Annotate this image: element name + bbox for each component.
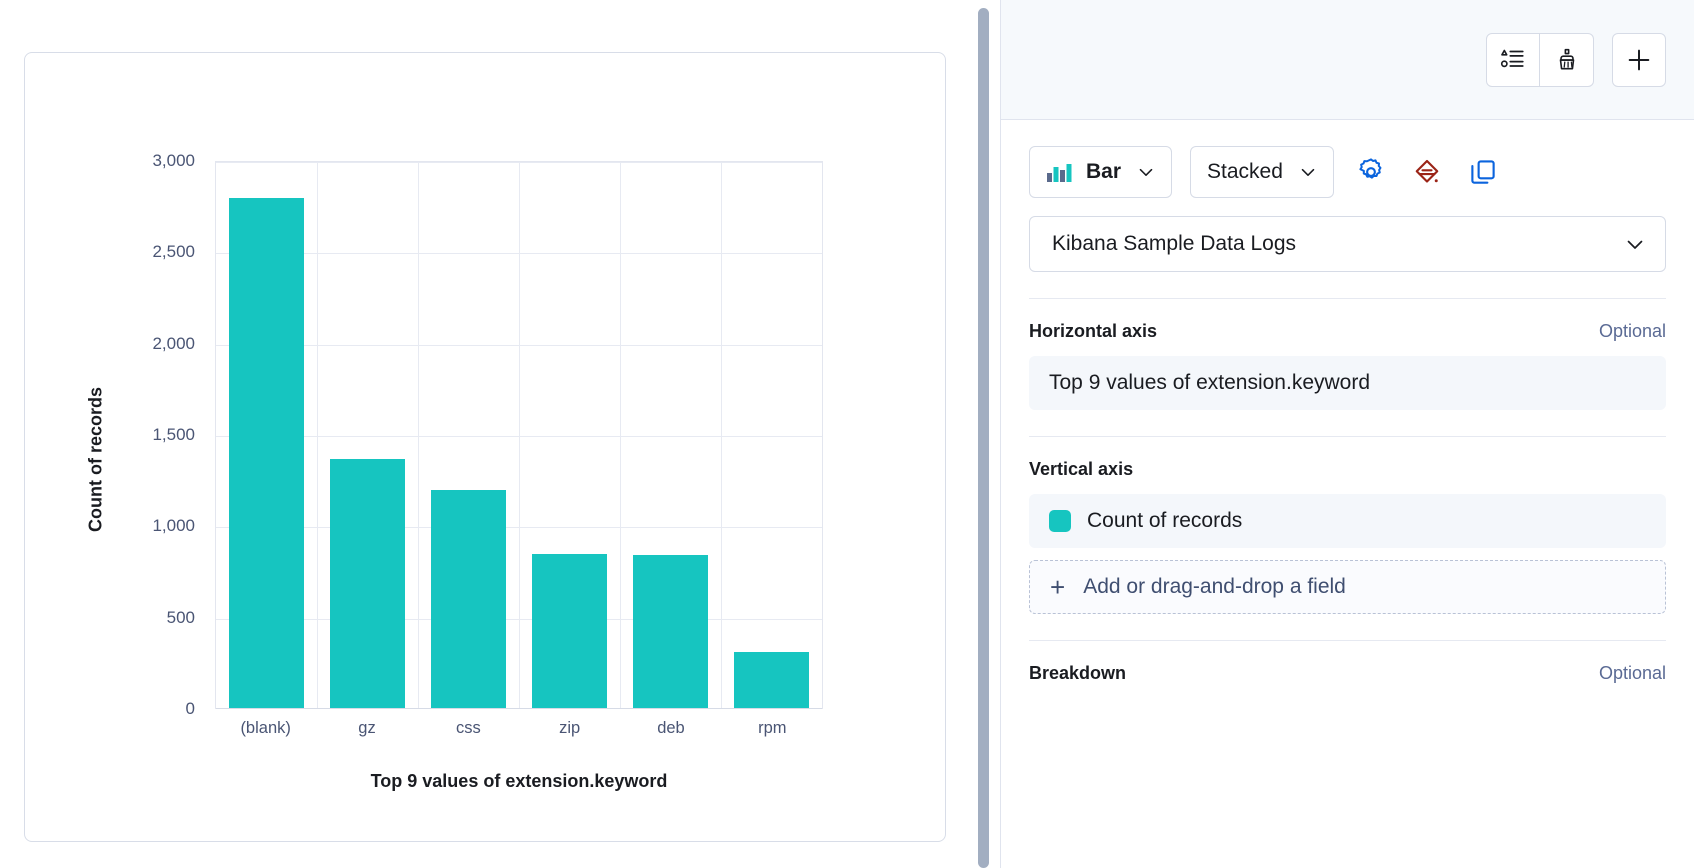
bar[interactable] — [734, 652, 810, 709]
color-swatch — [1049, 510, 1071, 532]
dimension-label: Top 9 values of extension.keyword — [1049, 371, 1370, 395]
stacking-label: Stacked — [1207, 160, 1283, 184]
chevron-down-icon — [1623, 232, 1647, 256]
dimension-chip[interactable]: Top 9 values of extension.keyword — [1029, 356, 1666, 410]
x-axis-line — [216, 708, 822, 709]
bar[interactable] — [431, 490, 507, 709]
x-axis-tick-labels: (blank)gzcsszipdebrpm — [215, 719, 823, 738]
stacking-select[interactable]: Stacked — [1190, 146, 1334, 198]
bar-series — [216, 162, 822, 709]
group-title: Breakdown — [1029, 663, 1126, 684]
brush-icon — [1554, 47, 1580, 73]
plot-area — [215, 161, 823, 709]
legend-options-button[interactable] — [1486, 33, 1540, 87]
clear-layer-button[interactable] — [1408, 153, 1446, 191]
bar[interactable] — [532, 554, 608, 709]
datasource-select[interactable]: Kibana Sample Data Logs — [1029, 216, 1666, 272]
group-optional-label: Optional — [1599, 663, 1666, 684]
x-axis-title: Top 9 values of extension.keyword — [215, 771, 823, 792]
bar-chart-icon — [1046, 161, 1072, 183]
dimension-label: Count of records — [1087, 509, 1242, 533]
bar[interactable] — [633, 555, 709, 709]
dimension-groups: Horizontal axisOptionalTop 9 values of e… — [1029, 298, 1666, 684]
y-axis-tick: 1,500 — [152, 425, 195, 445]
x-axis-tick: (blank) — [215, 719, 316, 738]
chevron-down-icon — [1297, 161, 1319, 183]
group-divider — [1029, 640, 1666, 641]
x-axis-tick: deb — [620, 719, 721, 738]
chart-type-select[interactable]: Bar — [1029, 146, 1172, 198]
group-divider — [1029, 298, 1666, 299]
chart-workspace: Count of records 05001,0001,5002,0002,50… — [0, 0, 978, 868]
duplicate-layer-button[interactable] — [1464, 153, 1502, 191]
group-optional-label: Optional — [1599, 321, 1666, 342]
bar-slot — [620, 162, 721, 709]
bar-slot — [216, 162, 317, 709]
x-axis-tick: css — [418, 719, 519, 738]
bar-slot — [721, 162, 822, 709]
toolbar-button-group — [1486, 33, 1594, 87]
config-panel: Bar Stacked — [1000, 0, 1694, 868]
bar-slot — [418, 162, 519, 709]
group-header: Horizontal axisOptional — [1029, 321, 1666, 342]
group-title: Horizontal axis — [1029, 321, 1157, 342]
chevron-down-icon — [1135, 161, 1157, 183]
y-axis-tick: 500 — [167, 608, 195, 628]
chart-card: Count of records 05001,0001,5002,0002,50… — [24, 52, 946, 842]
chart-inner: Count of records 05001,0001,5002,0002,50… — [25, 53, 945, 841]
panel-resize-handle[interactable] — [978, 8, 989, 868]
dimension-chip[interactable]: Count of records — [1029, 494, 1666, 548]
x-axis-tick: zip — [519, 719, 620, 738]
y-axis-title: Count of records — [81, 349, 111, 569]
plus-icon: + — [1050, 574, 1065, 600]
bar-slot — [317, 162, 418, 709]
legend-list-icon — [1500, 47, 1526, 73]
y-axis-tick: 2,500 — [152, 242, 195, 262]
plus-icon — [1625, 46, 1653, 74]
lens-editor: Count of records 05001,0001,5002,0002,50… — [0, 0, 1694, 868]
bar[interactable] — [330, 459, 406, 709]
add-layer-button[interactable] — [1612, 33, 1666, 87]
color-palette-button[interactable] — [1540, 33, 1594, 87]
panel-body: Bar Stacked — [1001, 120, 1694, 684]
x-axis-tick: rpm — [722, 719, 823, 738]
datasource-label: Kibana Sample Data Logs — [1052, 232, 1296, 256]
gear-icon — [1356, 157, 1386, 187]
add-field-label: Add or drag-and-drop a field — [1083, 575, 1346, 599]
group-divider — [1029, 436, 1666, 437]
x-axis-tick: gz — [316, 719, 417, 738]
y-axis-tick: 3,000 — [152, 151, 195, 171]
group-header: Vertical axis — [1029, 459, 1666, 480]
copy-icon — [1468, 157, 1498, 187]
y-axis-tick: 1,000 — [152, 516, 195, 536]
group-title: Vertical axis — [1029, 459, 1133, 480]
group-header: BreakdownOptional — [1029, 663, 1666, 684]
chart-type-label: Bar — [1086, 160, 1121, 184]
add-field-dropzone[interactable]: +Add or drag-and-drop a field — [1029, 560, 1666, 614]
y-axis-tick: 2,000 — [152, 334, 195, 354]
y-axis-tick: 0 — [186, 699, 195, 719]
eraser-icon — [1412, 157, 1442, 187]
y-axis-tick-labels: 05001,0001,5002,0002,5003,000 — [111, 53, 203, 868]
visualization-config-row: Bar Stacked — [1029, 146, 1666, 198]
panel-toolbar — [1001, 0, 1694, 120]
bar[interactable] — [229, 198, 305, 709]
settings-button[interactable] — [1352, 153, 1390, 191]
bar-slot — [519, 162, 620, 709]
